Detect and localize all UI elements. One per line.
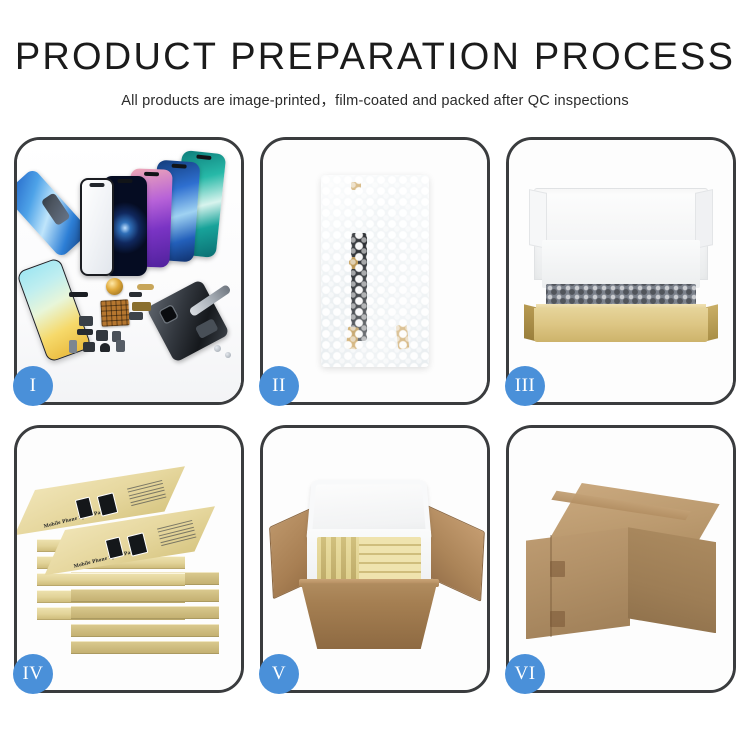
screw-icon — [225, 352, 231, 358]
notch-icon — [118, 179, 133, 183]
glass-front-panel — [80, 178, 114, 276]
box-edge — [71, 589, 219, 602]
open-export-carton — [277, 471, 473, 657]
step-2-image — [263, 140, 487, 402]
step-3-image — [509, 140, 733, 402]
step-badge-5: V — [259, 654, 299, 694]
sealed-carton — [526, 483, 716, 645]
step-panel-4[interactable]: Mobile Phone Spare Parts Mobile Phone Sp… — [14, 425, 244, 693]
screw-icon — [214, 345, 221, 352]
spare-part — [83, 342, 95, 352]
notch-icon — [196, 154, 211, 159]
spare-part — [137, 284, 154, 290]
box-edge — [71, 606, 219, 619]
step-4-image: Mobile Phone Spare Parts Mobile Phone Sp… — [17, 428, 241, 690]
carton-side-face — [628, 527, 716, 633]
step-badge-2: II — [259, 366, 299, 406]
step-6-image — [509, 428, 733, 690]
spare-part — [129, 312, 143, 320]
bubble-bag — [321, 175, 429, 367]
step-badge-4: IV — [13, 654, 53, 694]
spare-part — [132, 302, 151, 311]
stacked-retail-boxes: Mobile Phone Spare Parts Mobile Phone Sp… — [31, 474, 227, 654]
open-inner-box — [528, 188, 714, 354]
notch-icon — [171, 164, 186, 169]
spare-part — [100, 343, 110, 352]
box-edge — [37, 573, 185, 586]
carton-front-face — [526, 527, 630, 639]
step-5-image — [263, 428, 487, 690]
step-badge-6: VI — [505, 654, 545, 694]
spare-part — [69, 292, 88, 297]
spare-part — [77, 329, 93, 335]
carton-tape-patch — [550, 561, 565, 577]
notch-icon — [144, 172, 159, 176]
page-subtitle: All products are image-printed，film-coat… — [0, 89, 750, 110]
taptic-module-icon — [106, 278, 123, 295]
carton-tape-patch — [550, 611, 565, 627]
spare-part — [69, 340, 77, 353]
box-front-panel — [534, 308, 708, 342]
step-1-image — [17, 140, 241, 402]
product-preparation-infographic: PRODUCT PREPARATION PROCESS All products… — [0, 0, 750, 750]
step-panel-1[interactable]: I — [14, 137, 244, 405]
spare-part — [116, 340, 125, 352]
retail-boxes-inside — [317, 537, 421, 581]
header: PRODUCT PREPARATION PROCESS All products… — [0, 36, 750, 110]
step-panel-5[interactable]: V — [260, 425, 490, 693]
box-edge — [71, 624, 219, 637]
process-step-grid: I II — [14, 137, 736, 693]
notch-icon — [90, 183, 105, 187]
spare-part — [129, 292, 142, 297]
spare-part — [79, 316, 93, 326]
carton-body — [301, 583, 437, 649]
step-panel-6[interactable]: VI — [506, 425, 736, 693]
plastic-sheen — [321, 175, 429, 367]
logic-board-shield-icon — [100, 299, 129, 326]
box-edge — [71, 641, 219, 654]
step-badge-3: III — [505, 366, 545, 406]
spare-part — [96, 330, 108, 341]
step-panel-2[interactable]: II — [260, 137, 490, 405]
step-badge-1: I — [13, 366, 53, 406]
step-panel-3[interactable]: III — [506, 137, 736, 405]
foam-sheet — [542, 240, 700, 288]
page-title: PRODUCT PREPARATION PROCESS — [0, 36, 750, 80]
